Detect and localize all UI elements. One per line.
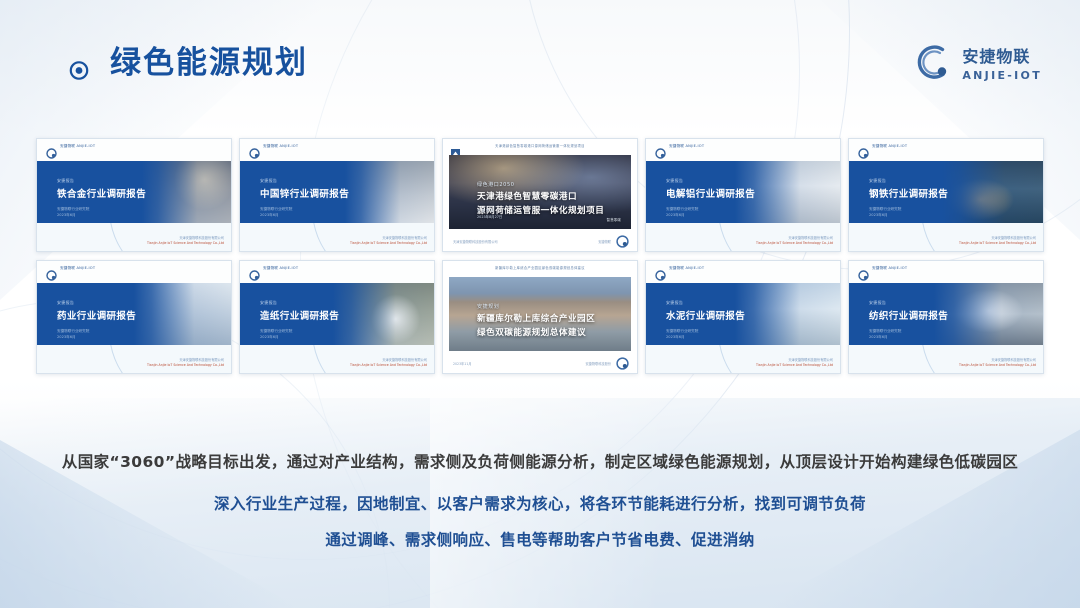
- anjie-mini-logo-icon: [46, 144, 57, 155]
- anjie-mini-logo-icon: [616, 355, 629, 368]
- card-photo: [142, 161, 231, 223]
- anjie-mini-logo-icon: [655, 266, 666, 277]
- card-bottom: 2023年11月 安捷物联科技股份: [443, 351, 637, 373]
- card-kicker: 安捷报告: [260, 178, 277, 184]
- card-top-strip: 安捷物联 ANJIE-IOT: [37, 261, 231, 283]
- anjie-brand-mark-icon: [909, 40, 953, 84]
- card-kicker: 安捷报告: [666, 300, 683, 306]
- card-title: 药业行业调研报告: [57, 308, 136, 322]
- anjie-circle-logo-icon: [48, 40, 94, 86]
- card-subtitle: 安捷物联行业研究院 2023年6月: [666, 206, 698, 218]
- brand-text: 安捷物联 ANJIE-IOT: [962, 43, 1042, 82]
- card-footer-en: Tianjin Anjie IoT Science And Technology…: [350, 363, 427, 368]
- card-title: 电解铝行业调研报告: [666, 186, 755, 200]
- card-footer-en: Tianjin Anjie IoT Science And Technology…: [959, 363, 1036, 368]
- card-subtitle: 安捷物联行业研究院 2023年6月: [260, 206, 292, 218]
- card-photo: [333, 283, 434, 345]
- card-footer-en: Tianjin Anjie IoT Science And Technology…: [350, 241, 427, 246]
- card-mini-brand: 安捷物联 ANJIE-IOT: [669, 266, 704, 271]
- card-bottom: 天津安捷物联科技股份有限公司 安捷物联: [443, 229, 637, 251]
- card-bottom: 天津安捷物联科技股份有限公司 Tianjin Anjie IoT Science…: [646, 223, 840, 251]
- brand-logo: 安捷物联 ANJIE-IOT: [909, 40, 1042, 84]
- card-title-band: 安捷报告 水泥行业调研报告 安捷物联行业研究院 2023年6月: [646, 283, 840, 345]
- summary-line-2: 深入行业生产过程，因地制宜、以客户需求为核心，将各环节能耗进行分析，找到可调节负…: [0, 492, 1080, 514]
- card-footer-en: Tianjin Anjie IoT Science And Technology…: [756, 241, 833, 246]
- anjie-mini-logo-icon: [655, 144, 666, 155]
- card-bottom: 天津安捷物联科技股份有限公司 Tianjin Anjie IoT Science…: [849, 223, 1043, 251]
- card-photo: [934, 283, 1043, 345]
- thumbnail-card-aluminium[interactable]: 安捷物联 ANJIE-IOT 安捷报告 电解铝行业调研报告 安捷物联行业研究院 …: [645, 138, 841, 252]
- card-photo: [735, 283, 840, 345]
- summary-line-1: 从国家“3060”战略目标出发，通过对产业结构，需求侧及负荷侧能源分析，制定区域…: [0, 450, 1080, 472]
- card-footer: 天津安捷物联科技股份有限公司 Tianjin Anjie IoT Science…: [756, 358, 833, 368]
- card-footer: 天津安捷物联科技股份有限公司 Tianjin Anjie IoT Science…: [959, 236, 1036, 246]
- card-title-band: 安捷报告 造纸行业调研报告 安捷物联行业研究院 2023年6月: [240, 283, 434, 345]
- card-top-strip: 安捷物联 ANJIE-IOT: [646, 261, 840, 283]
- page-title: 绿色能源规划: [110, 48, 308, 79]
- card-subtitle: 安捷物联行业研究院 2023年6月: [57, 328, 89, 340]
- thumbnail-card-zinc[interactable]: 安捷物联 ANJIE-IOT 安捷报告 中国锌行业调研报告 安捷物联行业研究院 …: [239, 138, 435, 252]
- card-footer-en: Tianjin Anjie IoT Science And Technology…: [147, 241, 224, 246]
- card-mini-brand: 安捷物联 ANJIE-IOT: [60, 266, 95, 271]
- card-footer-right: 安捷物联科技股份: [586, 361, 612, 366]
- thumbnail-card-paper[interactable]: 安捷物联 ANJIE-IOT 安捷报告 造纸行业调研报告 安捷物联行业研究院 2…: [239, 260, 435, 374]
- card-top-strip: 安捷物联 ANJIE-IOT: [849, 139, 1043, 161]
- card-top-strip: 安捷物联 ANJIE-IOT: [240, 139, 434, 161]
- card-top-strip: 安捷物联 ANJIE-IOT: [849, 261, 1043, 283]
- card-title-band: 安捷报告 中国锌行业调研报告 安捷物联行业研究院 2023年6月: [240, 161, 434, 223]
- card-mini-brand: 安捷物联 ANJIE-IOT: [263, 144, 298, 149]
- card-bottom: 天津安捷物联科技股份有限公司 Tianjin Anjie IoT Science…: [849, 345, 1043, 373]
- card-footer-en: Tianjin Anjie IoT Science And Technology…: [959, 241, 1036, 246]
- card-top-strip: 天津港绿色智慧零碳港口源网荷储运管服一体化规划项目: [443, 139, 637, 155]
- card-kicker: 安捷报告: [869, 178, 886, 184]
- card-subtitle: 安捷物联行业研究院 2023年6月: [260, 328, 292, 340]
- brand-name-cn: 安捷物联: [962, 43, 1042, 67]
- card-photo: 安捷规划 新疆库尔勒上库综合产业园区 绿色双碳能源规划总体建议: [449, 277, 631, 351]
- card-footer: 天津安捷物联科技股份有限公司 Tianjin Anjie IoT Science…: [147, 236, 224, 246]
- card-title-group: 安捷规划 新疆库尔勒上库综合产业园区 绿色双碳能源规划总体建议: [477, 303, 595, 341]
- card-bottom: 天津安捷物联科技股份有限公司 Tianjin Anjie IoT Science…: [240, 345, 434, 373]
- card-footer-left: 2023年11月: [453, 361, 472, 366]
- card-photo: [134, 283, 231, 345]
- card-footer: 天津安捷物联科技股份有限公司 Tianjin Anjie IoT Science…: [959, 358, 1036, 368]
- card-title-line1: 天津港绿色智慧零碳港口: [477, 191, 604, 205]
- card-footer: 天津安捷物联科技股份有限公司 Tianjin Anjie IoT Science…: [756, 236, 833, 246]
- card-bottom: 天津安捷物联科技股份有限公司 Tianjin Anjie IoT Science…: [646, 345, 840, 373]
- card-title-band: 安捷报告 电解铝行业调研报告 安捷物联行业研究院 2023年6月: [646, 161, 840, 223]
- card-mini-brand: 安捷物联 ANJIE-IOT: [872, 144, 907, 149]
- card-title-band: 安捷报告 钢铁行业调研报告 安捷物联行业研究院 2023年6月: [849, 161, 1043, 223]
- anjie-mini-logo-icon: [858, 266, 869, 277]
- summary-copy: 从国家“3060”战略目标出发，通过对产业结构，需求侧及负荷侧能源分析，制定区域…: [0, 450, 1080, 550]
- thumbnail-card-cement[interactable]: 安捷物联 ANJIE-IOT 安捷报告 水泥行业调研报告 安捷物联行业研究院 2…: [645, 260, 841, 374]
- card-title: 中国锌行业调研报告: [260, 186, 349, 200]
- card-subtitle: 安捷物联行业研究院 2023年6月: [57, 206, 89, 218]
- thumbnail-card-xinjiang-park[interactable]: 新疆库尔勒上库综合产业园区绿色双碳能源规划总体建议 安捷规划 新疆库尔勒上库综合…: [442, 260, 638, 374]
- card-top-strip: 安捷物联 ANJIE-IOT: [37, 139, 231, 161]
- slide-thumbnail-grid: 安捷物联 ANJIE-IOT 安捷报告 铁合金行业调研报告 安捷物联行业研究院 …: [36, 138, 1044, 374]
- card-bottom: 天津安捷物联科技股份有限公司 Tianjin Anjie IoT Science…: [37, 223, 231, 251]
- card-strip-text: 天津港绿色智慧零碳港口源网荷储运管服一体化规划项目: [443, 143, 637, 148]
- summary-line-3: 通过调峰、需求侧响应、售电等帮助客户节省电费、促进消纳: [0, 528, 1080, 550]
- anjie-mini-logo-icon: [46, 266, 57, 277]
- card-top-strip: 安捷物联 ANJIE-IOT: [240, 261, 434, 283]
- card-kicker: 绿色港口2050: [477, 181, 604, 188]
- card-footer-right: 安捷物联: [598, 239, 611, 244]
- title-group: 绿色能源规划: [48, 40, 308, 86]
- card-title-band: 安捷报告 铁合金行业调研报告 安捷物联行业研究院 2023年6月: [37, 161, 231, 223]
- card-title: 造纸行业调研报告: [260, 308, 339, 322]
- card-subtitle: 安捷物联行业研究院 2023年6月: [869, 206, 901, 218]
- card-subtitle: 安捷物联行业研究院 2023年6月: [666, 328, 698, 340]
- thumbnail-card-steel[interactable]: 安捷物联 ANJIE-IOT 安捷报告 钢铁行业调研报告 安捷物联行业研究院 2…: [848, 138, 1044, 252]
- card-title-line1: 新疆库尔勒上库综合产业园区: [477, 313, 595, 327]
- card-mini-brand: 安捷物联 ANJIE-IOT: [263, 266, 298, 271]
- card-mini-brand: 安捷物联 ANJIE-IOT: [872, 266, 907, 271]
- card-subtitle: 安捷物联行业研究院 2023年6月: [869, 328, 901, 340]
- thumbnail-card-tianjin-port[interactable]: 天津港绿色智慧零碳港口源网荷储运管服一体化规划项目 绿色港口2050 天津港绿色…: [442, 138, 638, 252]
- card-mini-brand: 安捷物联 ANJIE-IOT: [60, 144, 95, 149]
- card-title-line2: 绿色双碳能源规划总体建议: [477, 327, 595, 341]
- card-kicker: 安捷报告: [260, 300, 277, 306]
- anjie-mini-logo-icon: [616, 233, 629, 246]
- card-title: 钢铁行业调研报告: [869, 186, 948, 200]
- card-kicker: 安捷规划: [477, 303, 595, 310]
- card-photo-brand: 智慧零碳: [607, 217, 621, 222]
- anjie-mini-logo-icon: [858, 144, 869, 155]
- card-kicker: 安捷报告: [869, 300, 886, 306]
- anjie-mini-logo-icon: [249, 144, 260, 155]
- card-photo: [942, 161, 1043, 223]
- card-footer: 天津安捷物联科技股份有限公司 Tianjin Anjie IoT Science…: [147, 358, 224, 368]
- card-mini-brand: 安捷物联 ANJIE-IOT: [669, 144, 704, 149]
- card-top-strip: 安捷物联 ANJIE-IOT: [646, 139, 840, 161]
- card-bottom: 天津安捷物联科技股份有限公司 Tianjin Anjie IoT Science…: [37, 345, 231, 373]
- card-title: 水泥行业调研报告: [666, 308, 745, 322]
- card-kicker: 安捷报告: [57, 178, 74, 184]
- card-photo: 绿色港口2050 天津港绿色智慧零碳港口 源网荷储运管服一体化规划项目 安 捷 …: [449, 155, 631, 229]
- card-footer: 天津安捷物联科技股份有限公司 Tianjin Anjie IoT Science…: [350, 358, 427, 368]
- card-title: 纺织行业调研报告: [869, 308, 948, 322]
- slide-header: 绿色能源规划 安捷物联 ANJIE-IOT: [0, 0, 1080, 120]
- thumbnail-card-textile[interactable]: 安捷物联 ANJIE-IOT 安捷报告 纺织行业调研报告 安捷物联行业研究院 2…: [848, 260, 1044, 374]
- thumbnail-card-tiehejin[interactable]: 安捷物联 ANJIE-IOT 安捷报告 铁合金行业调研报告 安捷物联行业研究院 …: [36, 138, 232, 252]
- card-kicker: 安捷报告: [57, 300, 74, 306]
- anjie-mini-logo-icon: [249, 266, 260, 277]
- card-footer-en: Tianjin Anjie IoT Science And Technology…: [147, 363, 224, 368]
- card-title: 铁合金行业调研报告: [57, 186, 146, 200]
- card-photo: [345, 161, 434, 223]
- card-bottom: 天津安捷物联科技股份有限公司 Tianjin Anjie IoT Science…: [240, 223, 434, 251]
- brand-name-en: ANJIE-IOT: [962, 69, 1042, 82]
- card-footer-en: Tianjin Anjie IoT Science And Technology…: [756, 363, 833, 368]
- card-footer-left: 天津安捷物联科技股份有限公司: [453, 239, 498, 244]
- card-strip-text: 新疆库尔勒上库综合产业园区绿色双碳能源规划总体建议: [443, 265, 637, 270]
- card-kicker: 安捷报告: [666, 178, 683, 184]
- card-title-band: 安捷报告 药业行业调研报告 安捷物联行业研究院 2023年6月: [37, 283, 231, 345]
- card-footer: 天津安捷物联科技股份有限公司 Tianjin Anjie IoT Science…: [350, 236, 427, 246]
- card-title-band: 安捷报告 纺织行业调研报告 安捷物联行业研究院 2023年6月: [849, 283, 1043, 345]
- thumbnail-card-pharma[interactable]: 安捷物联 ANJIE-IOT 安捷报告 药业行业调研报告 安捷物联行业研究院 2…: [36, 260, 232, 374]
- card-top-strip: 新疆库尔勒上库综合产业园区绿色双碳能源规划总体建议: [443, 261, 637, 277]
- card-meta: 安 捷 物 联 2023年8月27日: [477, 209, 502, 221]
